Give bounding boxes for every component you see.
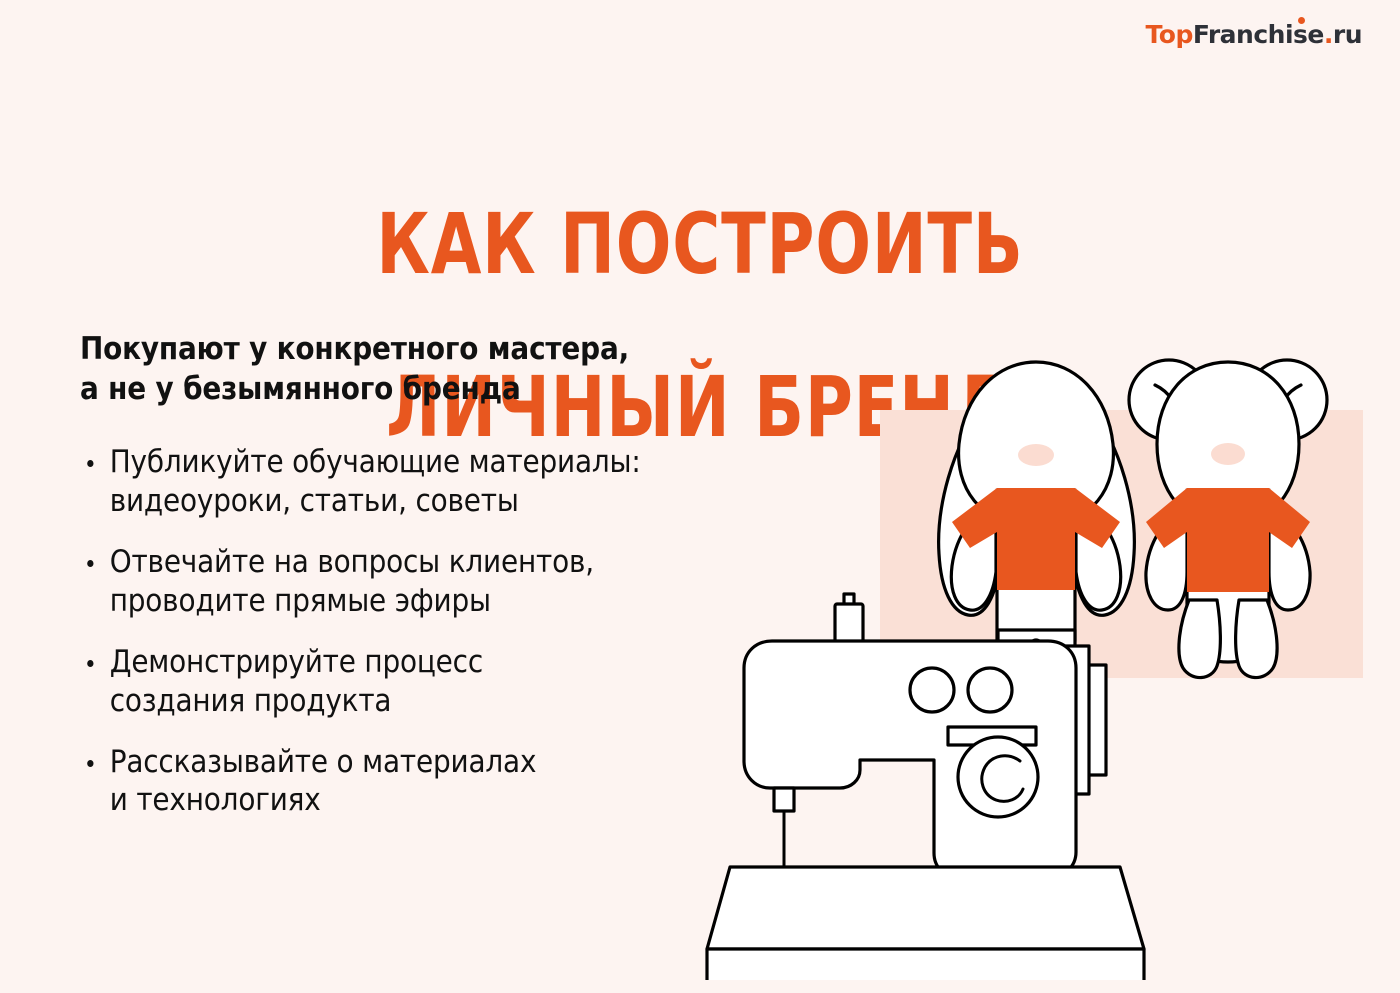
list-item: Рассказывайте о материалах и технологиях bbox=[80, 743, 728, 820]
subtitle: Покупают у конкретного мастера, а не у б… bbox=[80, 330, 728, 409]
list-item: Демонстрируйте процесс создания продукта bbox=[80, 643, 728, 720]
bear-leg-left bbox=[1179, 600, 1220, 678]
topfranchise-logo[interactable]: TopFranchise.ru bbox=[1146, 22, 1362, 47]
logo-tld-text: ru bbox=[1333, 20, 1362, 49]
machine-base-top bbox=[707, 867, 1144, 949]
bear-leg-right bbox=[1236, 600, 1277, 678]
machine-knob-right bbox=[968, 668, 1012, 712]
bear-nose-icon bbox=[1211, 443, 1245, 465]
illustration-svg bbox=[700, 340, 1400, 980]
illustration bbox=[700, 340, 1400, 980]
list-item: Публикуйте обучающие материалы: видеоуро… bbox=[80, 443, 728, 520]
logo-period: . bbox=[1324, 20, 1333, 49]
presser-foot bbox=[774, 788, 794, 811]
logo-franchise-text: Franchise bbox=[1193, 20, 1324, 49]
sewing-machine bbox=[707, 594, 1144, 980]
list-item: Отвечайте на вопросы клиентов, проводите… bbox=[80, 543, 728, 620]
content-column: Покупают у конкретного мастера, а не у б… bbox=[80, 330, 800, 843]
page-title-line-1: КАК ПОСТРОИТЬ bbox=[154, 204, 1246, 285]
logo-accent-dot-icon bbox=[1298, 17, 1305, 24]
logo-top-text: Top bbox=[1146, 20, 1193, 49]
bunny-nose-icon bbox=[1018, 444, 1054, 466]
machine-knob-left bbox=[910, 668, 954, 712]
tips-list: Публикуйте обучающие материалы: видеоуро… bbox=[80, 443, 728, 820]
logo-franchise-label: Franchise bbox=[1193, 20, 1324, 49]
machine-base-front bbox=[707, 949, 1144, 980]
machine-dial bbox=[958, 737, 1038, 817]
infographic-poster: TopFranchise.ru КАК ПОСТРОИТЬ ЛИЧНЫЙ БРЕ… bbox=[0, 0, 1400, 993]
